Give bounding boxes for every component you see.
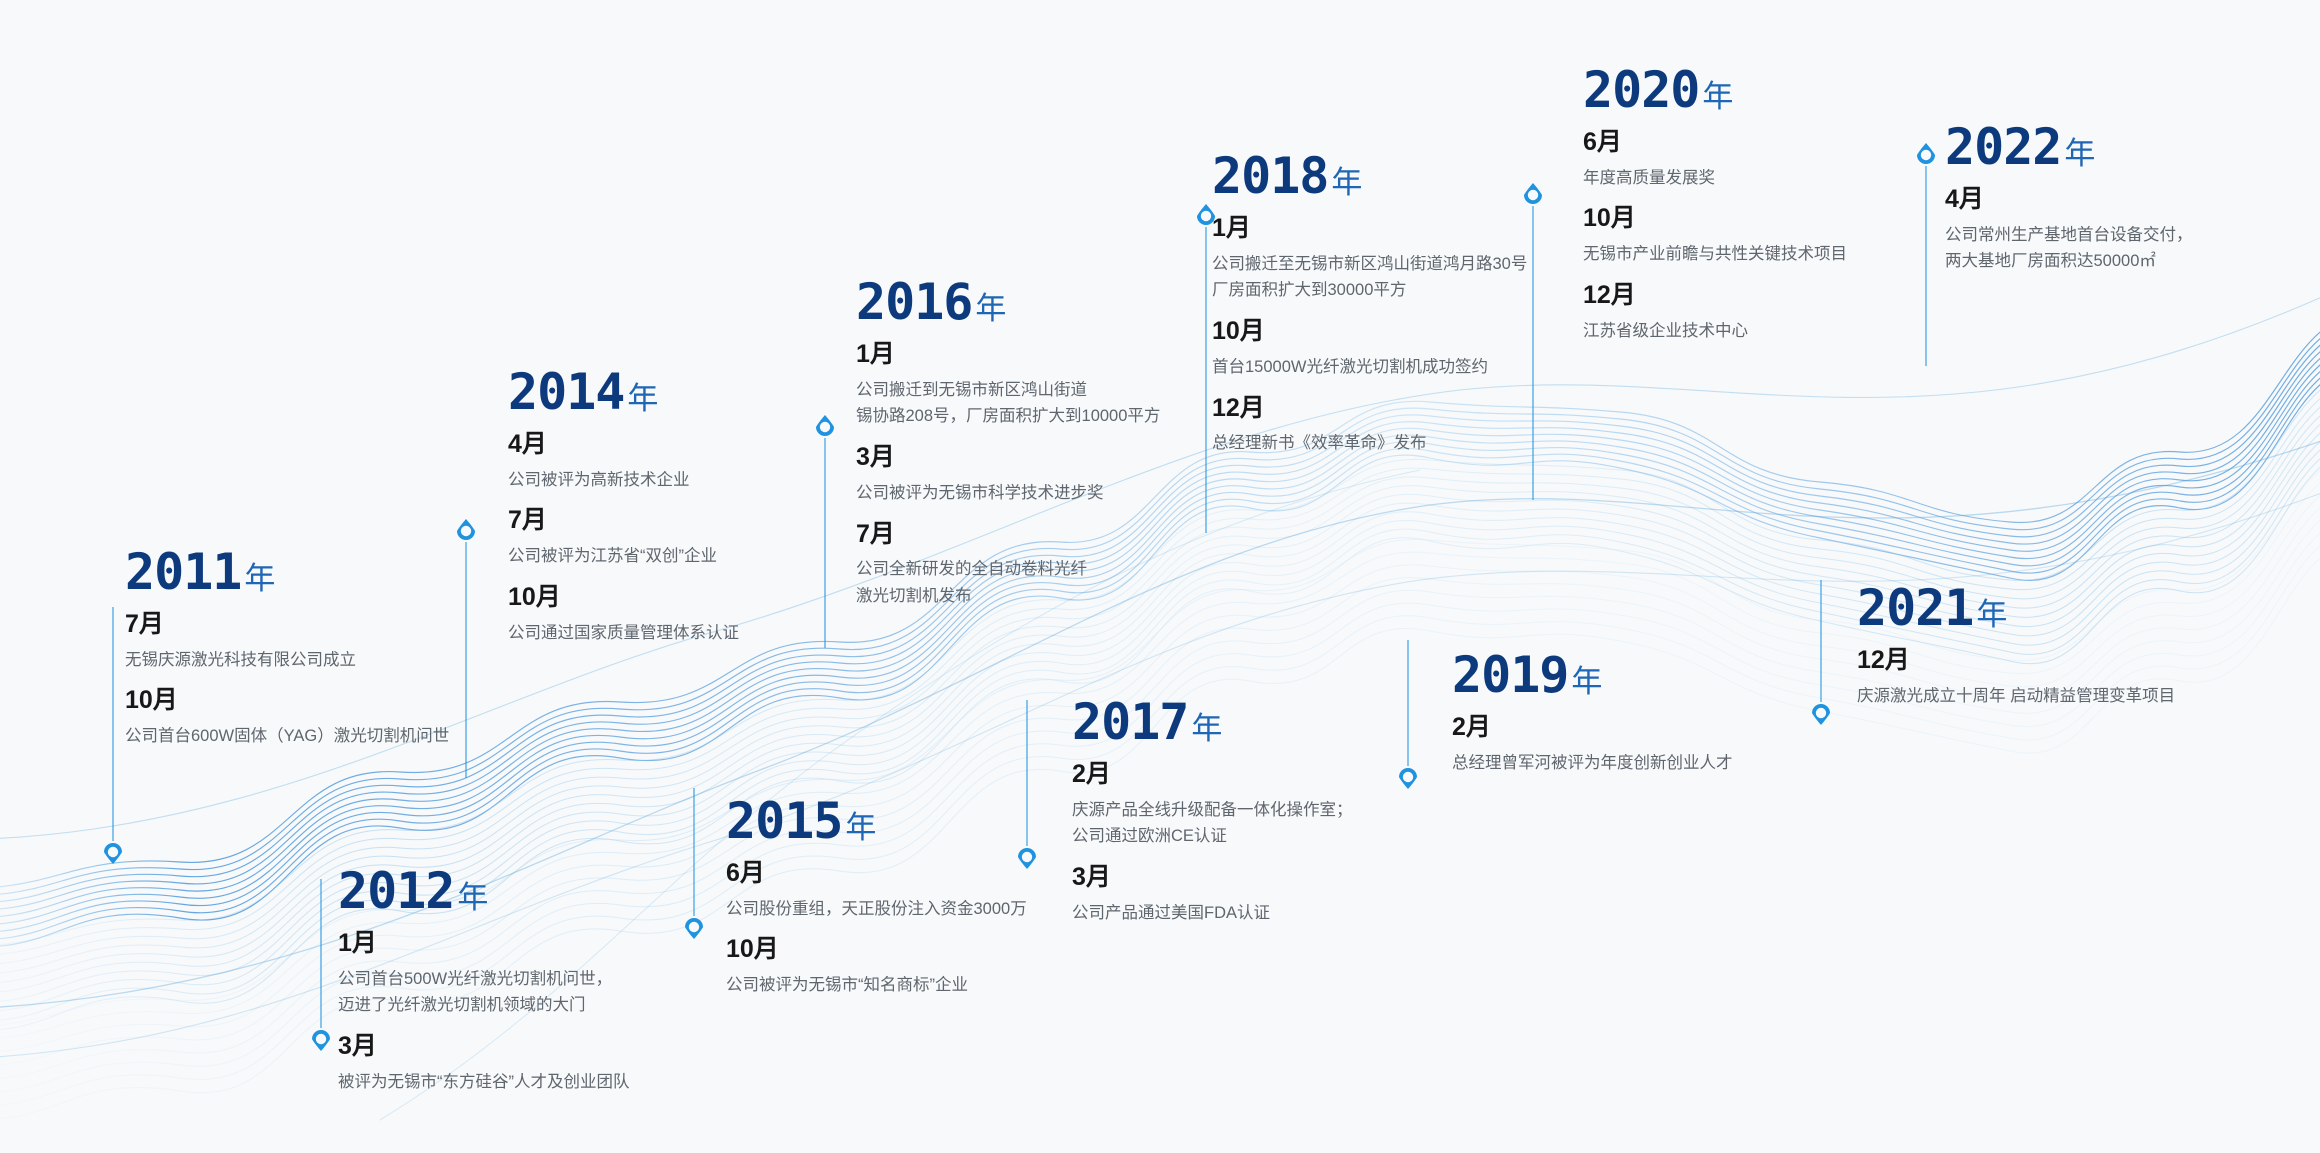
location-pin-icon [1394,640,1422,790]
month-label: 7月 [508,506,739,535]
timeline-entry-2021: 2021年12月庆源激光成立十周年 启动精益管理变革项目 [1857,583,2175,709]
year-digits: 2021 [1857,579,1973,637]
year-suffix-char: 年 [2064,136,2096,171]
timeline-pin-2014 [452,518,480,778]
milestone-description: 公司搬迁到无锡市新区鸿山街道锡协路208号，厂房面积扩大到10000平方 [856,377,1160,430]
description-line: 总经理新书《效率革命》发布 [1212,430,1527,457]
timeline-pin-2022 [1912,142,1940,366]
year-digits: 2016 [856,273,972,331]
milestone-description: 公司被评为无锡市“知名商标”企业 [726,972,1027,999]
description-line: 无锡市产业前瞻与共性关键技术项目 [1583,241,1847,268]
month-label: 6月 [726,859,1027,888]
location-pin-icon [452,518,480,778]
description-line: 江苏省级企业技术中心 [1583,318,1847,345]
description-line: 公司被评为无锡市科学技术进步奖 [856,480,1160,507]
year-heading-2012: 2012年 [338,866,630,916]
milestone-description: 公司股份重组，天正股份注入资金3000万 [726,896,1027,923]
location-pin-icon [99,607,127,865]
month-label: 3月 [338,1032,630,1061]
year-heading-2019: 2019年 [1452,650,1733,700]
milestone-description: 庆源激光成立十周年 启动精益管理变革项目 [1857,683,2175,710]
year-digits: 2022 [1945,118,2061,176]
description-line: 锡协路208号，厂房面积扩大到10000平方 [856,403,1160,430]
month-label: 6月 [1583,128,1847,157]
milestone-2017-3月: 3月公司产品通过美国FDA认证 [1072,863,1353,926]
description-line: 年度高质量发展奖 [1583,165,1847,192]
year-digits: 2018 [1212,147,1328,205]
location-pin-icon [1807,580,1835,726]
milestone-description: 被评为无锡市“东方硅谷”人才及创业团队 [338,1069,630,1096]
description-line: 激光切割机发布 [856,583,1160,610]
milestone-description: 公司全新研发的全自动卷料光纤激光切割机发布 [856,556,1160,609]
timeline-entry-2014: 2014年4月公司被评为高新技术企业7月公司被评为江苏省“双创”企业10月公司通… [508,367,739,646]
milestone-2011-10月: 10月公司首台600W固体（YAG）激光切割机问世 [125,686,449,749]
month-label: 12月 [1857,646,2175,675]
month-label: 10月 [508,583,739,612]
description-line: 庆源产品全线升级配备一体化操作室； [1072,797,1353,824]
milestone-2016-1月: 1月公司搬迁到无锡市新区鸿山街道锡协路208号，厂房面积扩大到10000平方 [856,340,1160,430]
description-line: 公司常州生产基地首台设备交付， [1945,222,2193,249]
milestone-description: 公司首台600W固体（YAG）激光切割机问世 [125,723,449,750]
milestone-description: 公司被评为无锡市科学技术进步奖 [856,480,1160,507]
timeline-pin-2012 [307,879,335,1052]
milestone-2015-10月: 10月公司被评为无锡市“知名商标”企业 [726,935,1027,998]
year-suffix-char: 年 [845,810,877,845]
description-line: 迈进了光纤激光切割机领域的大门 [338,992,630,1019]
milestone-description: 无锡市产业前瞻与共性关键技术项目 [1583,241,1847,268]
timeline-entry-2019: 2019年2月总经理曾军河被评为年度创新创业人才 [1452,650,1733,776]
year-digits: 2012 [338,862,454,920]
timeline-entry-2018: 2018年1月公司搬迁至无锡市新区鸿山街道鸿月路30号厂房面积扩大到30000平… [1212,151,1527,457]
description-line: 公司被评为高新技术企业 [508,467,739,494]
milestone-2018-12月: 12月总经理新书《效率革命》发布 [1212,394,1527,457]
description-line: 公司产品通过美国FDA认证 [1072,900,1353,927]
location-pin-icon [307,879,335,1052]
timeline-entry-2011: 2011年7月无锡庆源激光科技有限公司成立10月公司首台600W固体（YAG）激… [125,547,449,750]
year-suffix-char: 年 [1976,597,2008,632]
milestone-description: 庆源产品全线升级配备一体化操作室；公司通过欧洲CE认证 [1072,797,1353,850]
year-suffix-char: 年 [1191,711,1223,746]
milestone-2014-7月: 7月公司被评为江苏省“双创”企业 [508,506,739,569]
timeline-pin-2019 [1394,640,1422,790]
year-heading-2018: 2018年 [1212,151,1527,201]
month-label: 2月 [1072,760,1353,789]
milestone-description: 公司通过国家质量管理体系认证 [508,620,739,647]
milestone-description: 江苏省级企业技术中心 [1583,318,1847,345]
milestone-description: 公司产品通过美国FDA认证 [1072,900,1353,927]
month-label: 4月 [1945,185,2193,214]
milestone-2018-10月: 10月首台15000W光纤激光切割机成功签约 [1212,317,1527,380]
milestone-2012-3月: 3月被评为无锡市“东方硅谷”人才及创业团队 [338,1032,630,1095]
description-line: 总经理曾军河被评为年度创新创业人才 [1452,750,1733,777]
month-label: 7月 [125,610,449,639]
year-suffix-char: 年 [1331,165,1363,200]
milestone-description: 公司被评为高新技术企业 [508,467,739,494]
month-label: 1月 [1212,214,1527,243]
milestone-description: 首台15000W光纤激光切割机成功签约 [1212,354,1527,381]
description-line: 公司通过欧洲CE认证 [1072,823,1353,850]
year-heading-2022: 2022年 [1945,122,2193,172]
year-suffix-char: 年 [975,291,1007,326]
milestone-2018-1月: 1月公司搬迁至无锡市新区鸿山街道鸿月路30号厂房面积扩大到30000平方 [1212,214,1527,304]
milestone-2017-2月: 2月庆源产品全线升级配备一体化操作室；公司通过欧洲CE认证 [1072,760,1353,850]
description-line: 公司全新研发的全自动卷料光纤 [856,556,1160,583]
year-heading-2016: 2016年 [856,277,1160,327]
milestone-description: 公司首台500W光纤激光切割机问世，迈进了光纤激光切割机领域的大门 [338,966,630,1019]
milestone-2015-6月: 6月公司股份重组，天正股份注入资金3000万 [726,859,1027,922]
description-line: 公司通过国家质量管理体系认证 [508,620,739,647]
description-line: 无锡庆源激光科技有限公司成立 [125,647,449,674]
timeline-entry-2022: 2022年4月公司常州生产基地首台设备交付，两大基地厂房面积达50000㎡ [1945,122,2193,275]
milestone-2014-10月: 10月公司通过国家质量管理体系认证 [508,583,739,646]
milestone-2016-3月: 3月公司被评为无锡市科学技术进步奖 [856,443,1160,506]
year-suffix-char: 年 [1702,79,1734,114]
timeline-pin-2021 [1807,580,1835,726]
year-digits: 2020 [1583,61,1699,119]
description-line: 公司搬迁至无锡市新区鸿山街道鸿月路30号 [1212,251,1527,278]
timeline-entry-2012: 2012年1月公司首台500W光纤激光切割机问世，迈进了光纤激光切割机领域的大门… [338,866,630,1096]
location-pin-icon [1912,142,1940,366]
milestone-2012-1月: 1月公司首台500W光纤激光切割机问世，迈进了光纤激光切割机领域的大门 [338,929,630,1019]
milestone-2011-7月: 7月无锡庆源激光科技有限公司成立 [125,610,449,673]
month-label: 12月 [1583,281,1847,310]
milestone-2019-2月: 2月总经理曾军河被评为年度创新创业人才 [1452,713,1733,776]
timeline-pin-2011 [99,607,127,865]
month-label: 10月 [726,935,1027,964]
year-heading-2021: 2021年 [1857,583,2175,633]
description-line: 公司被评为无锡市“知名商标”企业 [726,972,1027,999]
timeline-entry-2017: 2017年2月庆源产品全线升级配备一体化操作室；公司通过欧洲CE认证3月公司产品… [1072,697,1353,927]
year-suffix-char: 年 [244,561,276,596]
description-line: 庆源激光成立十周年 启动精益管理变革项目 [1857,683,2175,710]
description-line: 被评为无锡市“东方硅谷”人才及创业团队 [338,1069,630,1096]
month-label: 10月 [1212,317,1527,346]
milestone-2020-12月: 12月江苏省级企业技术中心 [1583,281,1847,344]
year-digits: 2014 [508,363,624,421]
year-digits: 2011 [125,543,241,601]
timeline-entry-2016: 2016年1月公司搬迁到无锡市新区鸿山街道锡协路208号，厂房面积扩大到1000… [856,277,1160,610]
year-digits: 2015 [726,792,842,850]
month-label: 1月 [856,340,1160,369]
year-heading-2011: 2011年 [125,547,449,597]
month-label: 2月 [1452,713,1733,742]
milestone-2021-12月: 12月庆源激光成立十周年 启动精益管理变革项目 [1857,646,2175,709]
description-line: 公司股份重组，天正股份注入资金3000万 [726,896,1027,923]
year-suffix-char: 年 [1571,664,1603,699]
month-label: 3月 [856,443,1160,472]
year-suffix-char: 年 [457,880,489,915]
month-label: 4月 [508,430,739,459]
milestone-description: 年度高质量发展奖 [1583,165,1847,192]
milestone-2020-10月: 10月无锡市产业前瞻与共性关键技术项目 [1583,204,1847,267]
month-label: 10月 [1583,204,1847,233]
month-label: 12月 [1212,394,1527,423]
year-heading-2020: 2020年 [1583,65,1847,115]
timeline-pin-2016 [811,414,839,648]
month-label: 1月 [338,929,630,958]
location-pin-icon [680,788,708,940]
timeline-entry-2020: 2020年6月年度高质量发展奖10月无锡市产业前瞻与共性关键技术项目12月江苏省… [1583,65,1847,344]
milestone-description: 总经理曾军河被评为年度创新创业人才 [1452,750,1733,777]
description-line: 公司搬迁到无锡市新区鸿山街道 [856,377,1160,404]
milestone-description: 无锡庆源激光科技有限公司成立 [125,647,449,674]
month-label: 3月 [1072,863,1353,892]
description-line: 厂房面积扩大到30000平方 [1212,277,1527,304]
month-label: 7月 [856,520,1160,549]
timeline-infographic: 2011年7月无锡庆源激光科技有限公司成立10月公司首台600W固体（YAG）激… [0,0,2320,1153]
timeline-entry-2015: 2015年6月公司股份重组，天正股份注入资金3000万10月公司被评为无锡市“知… [726,796,1027,999]
year-heading-2014: 2014年 [508,367,739,417]
description-line: 公司首台500W光纤激光切割机问世， [338,966,630,993]
description-line: 公司首台600W固体（YAG）激光切割机问世 [125,723,449,750]
description-line: 首台15000W光纤激光切割机成功签约 [1212,354,1527,381]
milestone-description: 总经理新书《效率革命》发布 [1212,430,1527,457]
milestone-2016-7月: 7月公司全新研发的全自动卷料光纤激光切割机发布 [856,520,1160,610]
year-digits: 2019 [1452,646,1568,704]
description-line: 两大基地厂房面积达50000㎡ [1945,248,2193,275]
month-label: 10月 [125,686,449,715]
year-suffix-char: 年 [627,381,659,416]
year-heading-2015: 2015年 [726,796,1027,846]
milestone-2020-6月: 6月年度高质量发展奖 [1583,128,1847,191]
milestone-2014-4月: 4月公司被评为高新技术企业 [508,430,739,493]
timeline-pin-2015 [680,788,708,940]
milestone-description: 公司搬迁至无锡市新区鸿山街道鸿月路30号厂房面积扩大到30000平方 [1212,251,1527,304]
milestone-description: 公司常州生产基地首台设备交付，两大基地厂房面积达50000㎡ [1945,222,2193,275]
year-heading-2017: 2017年 [1072,697,1353,747]
milestone-2022-4月: 4月公司常州生产基地首台设备交付，两大基地厂房面积达50000㎡ [1945,185,2193,275]
milestone-description: 公司被评为江苏省“双创”企业 [508,543,739,570]
description-line: 公司被评为江苏省“双创”企业 [508,543,739,570]
year-digits: 2017 [1072,693,1188,751]
location-pin-icon [811,414,839,648]
